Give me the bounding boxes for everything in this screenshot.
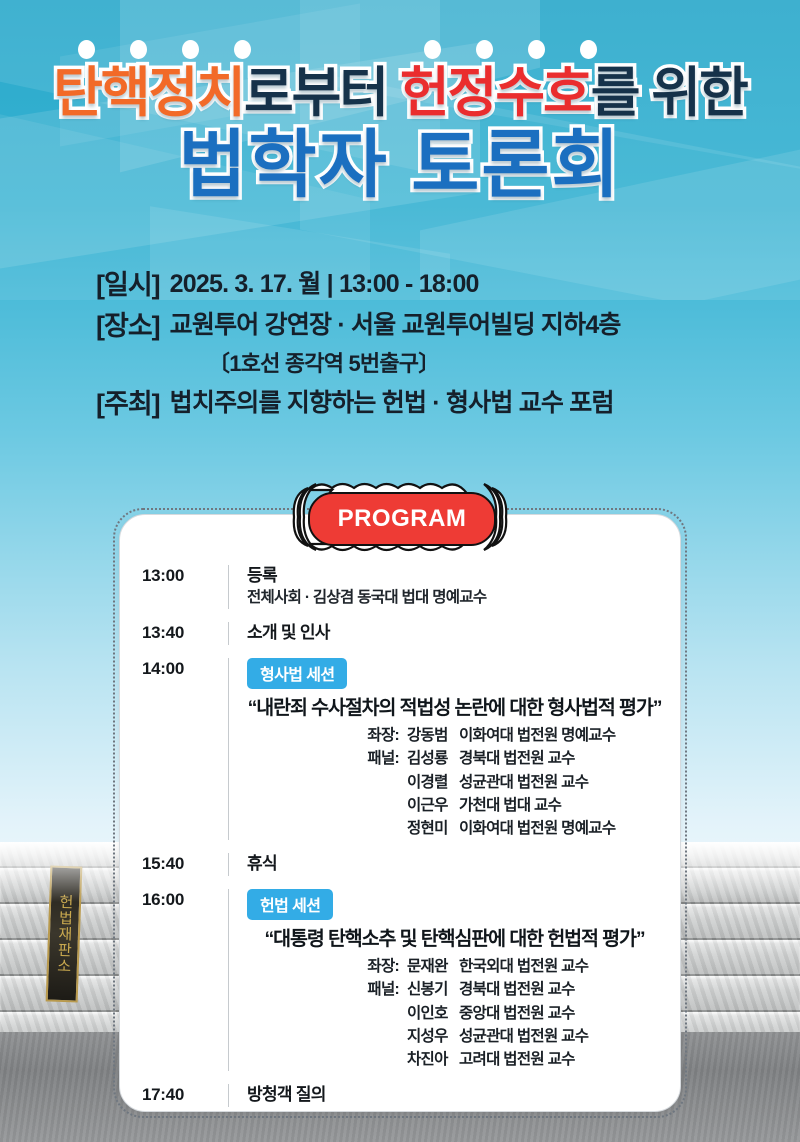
participant-name: 신봉기 — [407, 978, 459, 1001]
schedule-item-title: 소개 및 인사 — [247, 622, 662, 644]
participant-affiliation: 중앙대 법전원 교수 — [459, 1002, 575, 1025]
decorative-dot — [78, 40, 95, 59]
schedule-item-title: 등록 — [247, 565, 662, 587]
session-badge: 헌법 세션 — [247, 889, 333, 920]
participant-row: 패널:신봉기경북대 법전원 교수 — [247, 978, 662, 1001]
program-card: 13:00등록전체사회 · 김상겸 동국대 법대 명예교수13:40소개 및 인… — [113, 508, 687, 1118]
participant-row: 좌장:강동범이화여대 법전원 명예교수 — [247, 724, 662, 747]
participant-row: 이인호중앙대 법전원 교수 — [247, 1002, 662, 1025]
participant-affiliation: 경북대 법전원 교수 — [459, 747, 575, 770]
participant-role — [353, 1025, 407, 1048]
program-ribbon-pill: PROGRAM — [308, 492, 496, 546]
schedule-time: 13:00 — [142, 565, 228, 586]
info-value-host: 법치주의를 지향하는 헌법 · 형사법 교수 포럼 — [170, 387, 614, 421]
schedule-item-title: 휴식 — [247, 853, 662, 875]
participant-role: 좌장: — [353, 724, 407, 747]
schedule-time: 15:40 — [142, 853, 228, 874]
headline-line-2: 법학자 토론회 — [0, 128, 800, 202]
schedule-row: 17:40방청객 질의 — [120, 1084, 680, 1106]
schedule-content: 휴식 — [228, 853, 662, 875]
participant-name: 지성우 — [407, 1025, 459, 1048]
poster: 탄핵정치로부터 헌정수호를 위한 법학자 토론회 [일시] 2025. 3. 1… — [0, 0, 800, 1142]
participant-role — [353, 794, 407, 817]
session-topic: “내란죄 수사절차의 적법성 논란에 대한 형사법적 평가” — [247, 696, 662, 720]
participant-name: 차진아 — [407, 1048, 459, 1071]
schedule-time: 14:00 — [142, 658, 228, 679]
program-ribbon: PROGRAM — [292, 480, 508, 554]
participant-affiliation: 경북대 법전원 교수 — [459, 978, 575, 1001]
info-label-host: [주최] — [96, 387, 160, 422]
schedule-row: 14:00형사법 세션“내란죄 수사절차의 적법성 논란에 대한 형사법적 평가… — [120, 658, 680, 841]
participant-row: 좌장:문재완한국외대 법전원 교수 — [247, 955, 662, 978]
schedule-row: 13:00등록전체사회 · 김상겸 동국대 법대 명예교수 — [120, 565, 680, 609]
decorative-dot — [580, 40, 597, 59]
session-badge: 형사법 세션 — [247, 658, 347, 689]
schedule-content: 등록전체사회 · 김상겸 동국대 법대 명예교수 — [228, 565, 662, 609]
schedule-time: 16:00 — [142, 889, 228, 910]
participant-role — [353, 1002, 407, 1025]
participant-row: 차진아고려대 법전원 교수 — [247, 1048, 662, 1071]
participant-name: 정현미 — [407, 817, 459, 840]
headline-word-for: 를 위한 — [591, 63, 747, 123]
participant-row: 지성우성균관대 법전원 교수 — [247, 1025, 662, 1048]
session-topic: “대통령 탄핵소추 및 탄핵심판에 대한 헌법적 평가” — [247, 927, 662, 951]
headline-line-1: 탄핵정치로부터 헌정수호를 위한 — [0, 66, 800, 120]
schedule-content: 방청객 질의 — [228, 1084, 662, 1106]
info-row-date: [일시] 2025. 3. 17. 월 | 13:00 - 18:00 — [96, 268, 736, 303]
participant-role — [353, 771, 407, 794]
decorative-dot — [476, 40, 493, 59]
info-value-date: 2025. 3. 17. 월 | 13:00 - 18:00 — [170, 268, 479, 302]
participant-name: 문재완 — [407, 955, 459, 978]
session-participants: 좌장:강동범이화여대 법전원 명예교수패널:김성룡경북대 법전원 교수이경렬성균… — [247, 724, 662, 840]
participant-name: 강동범 — [407, 724, 459, 747]
schedule-time: 17:40 — [142, 1084, 228, 1105]
participant-affiliation: 가천대 법대 교수 — [459, 794, 561, 817]
decorative-dot — [234, 40, 251, 59]
schedule-content: 소개 및 인사 — [228, 622, 662, 644]
decorative-dot — [528, 40, 545, 59]
info-value-venue-subway: 〔1호선 종각역 5번출구〕 — [208, 350, 736, 379]
schedule-content: 헌법 세션“대통령 탄핵소추 및 탄핵심판에 대한 헌법적 평가”좌장:문재완한… — [228, 889, 662, 1072]
participant-affiliation: 성균관대 법전원 교수 — [459, 771, 588, 794]
participant-affiliation: 한국외대 법전원 교수 — [459, 955, 588, 978]
program-ribbon-label: PROGRAM — [338, 505, 467, 533]
participant-affiliation: 고려대 법전원 교수 — [459, 1048, 575, 1071]
info-row-venue: [장소] 교원투어 강연장 · 서울 교원투어빌딩 지하4층 — [96, 309, 736, 344]
participant-role — [353, 1048, 407, 1071]
decorative-dot — [424, 40, 441, 59]
participant-role: 패널: — [353, 978, 407, 1001]
poster-headline: 탄핵정치로부터 헌정수호를 위한 법학자 토론회 — [0, 66, 800, 202]
participant-role — [353, 817, 407, 840]
participant-name: 이경렬 — [407, 771, 459, 794]
info-label-date: [일시] — [96, 268, 160, 303]
schedule-item-subtitle: 전체사회 · 김상겸 동국대 법대 명예교수 — [247, 588, 662, 609]
event-info-block: [일시] 2025. 3. 17. 월 | 13:00 - 18:00 [장소]… — [96, 268, 736, 428]
participant-name: 이인호 — [407, 1002, 459, 1025]
participant-affiliation: 이화여대 법전원 명예교수 — [459, 724, 615, 747]
participant-row: 이근우가천대 법대 교수 — [247, 794, 662, 817]
participant-row: 이경렬성균관대 법전원 교수 — [247, 771, 662, 794]
program-card-body: 13:00등록전체사회 · 김상겸 동국대 법대 명예교수13:40소개 및 인… — [119, 514, 681, 1112]
info-value-venue: 교원투어 강연장 · 서울 교원투어빌딩 지하4층 — [170, 309, 621, 343]
schedule-row: 13:40소개 및 인사 — [120, 622, 680, 644]
participant-role: 패널: — [353, 747, 407, 770]
participant-name: 김성룡 — [407, 747, 459, 770]
schedule-content: 형사법 세션“내란죄 수사절차의 적법성 논란에 대한 형사법적 평가”좌장:강… — [228, 658, 662, 841]
participant-row: 정현미이화여대 법전원 명예교수 — [247, 817, 662, 840]
info-row-host: [주최] 법치주의를 지향하는 헌법 · 형사법 교수 포럼 — [96, 387, 736, 422]
schedule-row: 15:40휴식 — [120, 853, 680, 875]
participant-row: 패널:김성룡경북대 법전원 교수 — [247, 747, 662, 770]
participant-role: 좌장: — [353, 955, 407, 978]
participant-affiliation: 성균관대 법전원 교수 — [459, 1025, 588, 1048]
program-schedule-list: 13:00등록전체사회 · 김상겸 동국대 법대 명예교수13:40소개 및 인… — [120, 565, 680, 1112]
decorative-dot — [130, 40, 147, 59]
headline-word-from: 로부터 — [244, 63, 387, 123]
schedule-time: 13:40 — [142, 622, 228, 643]
schedule-item-title: 방청객 질의 — [247, 1084, 662, 1106]
participant-name: 이근우 — [407, 794, 459, 817]
decorative-dot-row — [0, 40, 800, 60]
headline-word-impeachment-politics: 탄핵정치 — [53, 63, 244, 123]
decorative-dot — [182, 40, 199, 59]
session-participants: 좌장:문재완한국외대 법전원 교수패널:신봉기경북대 법전원 교수이인호중앙대 … — [247, 955, 662, 1071]
schedule-row: 16:00헌법 세션“대통령 탄핵소추 및 탄핵심판에 대한 헌법적 평가”좌장… — [120, 889, 680, 1072]
participant-affiliation: 이화여대 법전원 명예교수 — [459, 817, 615, 840]
info-label-venue: [장소] — [96, 309, 160, 344]
headline-word-constitutional-defense: 헌정수호 — [387, 63, 591, 123]
